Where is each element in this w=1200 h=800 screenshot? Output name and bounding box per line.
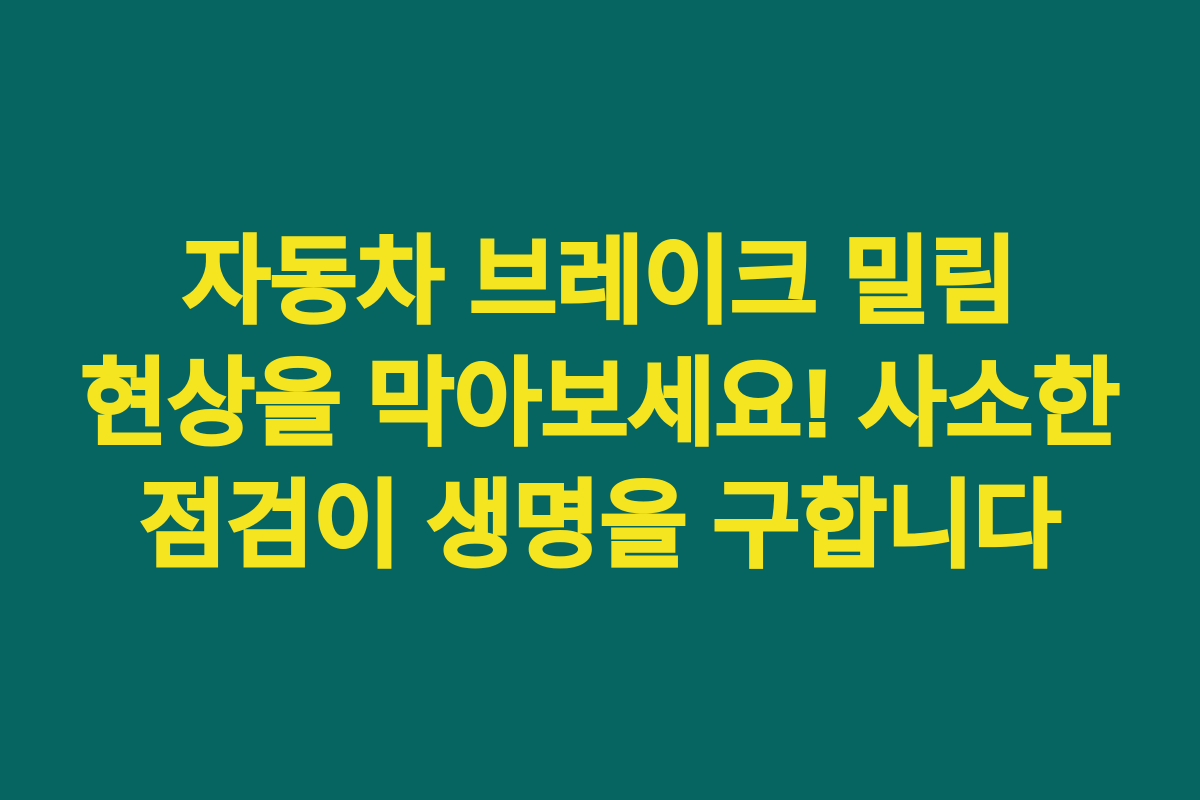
headline-line-1: 자동차 브레이크 밀림	[24, 221, 1176, 343]
headline-line-3: 점검이 생명을 구합니다	[24, 465, 1176, 587]
banner-canvas: 자동차 브레이크 밀림 현상을 막아보세요! 사소한 점검이 생명을 구합니다	[0, 0, 1200, 800]
headline-block: 자동차 브레이크 밀림 현상을 막아보세요! 사소한 점검이 생명을 구합니다	[0, 221, 1200, 587]
headline-line-2: 현상을 막아보세요! 사소한	[24, 343, 1176, 465]
